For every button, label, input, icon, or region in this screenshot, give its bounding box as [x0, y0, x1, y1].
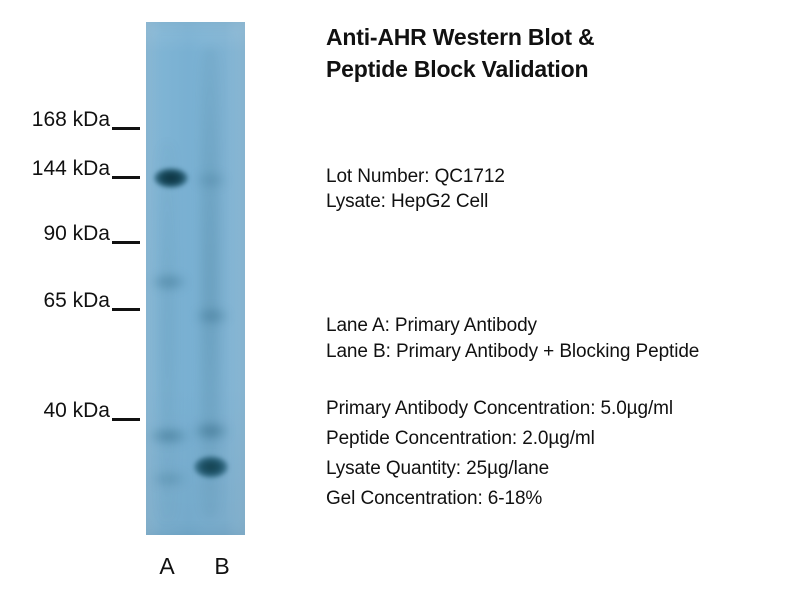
- mw-marker-tick: [112, 418, 140, 421]
- mw-marker-tick: [112, 241, 140, 244]
- primary-antibody-concentration-text: Primary Antibody Concentration: 5.0µg/ml: [326, 398, 673, 420]
- lot-number-text: Lot Number: QC1712: [326, 166, 505, 188]
- mw-marker-tick: [112, 308, 140, 311]
- gel-concentration-text: Gel Concentration: 6-18%: [326, 488, 542, 510]
- mw-marker-label: 65 kDa: [43, 289, 110, 313]
- lane-label-a: A: [152, 553, 182, 580]
- band-lane-a-36kda: [150, 428, 188, 444]
- lane-a-legend-text: Lane A: Primary Antibody: [326, 315, 537, 337]
- mw-marker-tick: [112, 127, 140, 130]
- band-lane-a-30kda: [152, 472, 186, 486]
- mw-marker-label: 144 kDa: [32, 157, 110, 181]
- band-lane-b-32kda: [194, 456, 228, 478]
- figure-title-line-1: Anti-AHR Western Blot &: [326, 24, 594, 51]
- figure-title-line-2: Peptide Block Validation: [326, 56, 588, 83]
- peptide-concentration-text: Peptide Concentration: 2.0µg/ml: [326, 428, 595, 450]
- band-lane-b-37kda: [194, 422, 228, 440]
- band-lane-b-144kda-blocked: [196, 172, 226, 188]
- blot-membrane: [146, 22, 245, 535]
- band-lane-a-144kda: [154, 168, 188, 188]
- lane-b-smear: [198, 48, 222, 518]
- mw-ladder: 168 kDa 144 kDa 90 kDa 65 kDa 40 kDa: [0, 0, 140, 600]
- band-lane-b-61kda: [196, 308, 228, 324]
- mw-marker-40: 40 kDa: [0, 395, 140, 423]
- western-blot-figure: 168 kDa 144 kDa 90 kDa 65 kDa 40 kDa: [0, 0, 800, 600]
- mw-marker-144: 144 kDa: [0, 153, 140, 181]
- mw-marker-label: 90 kDa: [43, 222, 110, 246]
- mw-marker-label: 40 kDa: [43, 399, 110, 423]
- mw-marker-65: 65 kDa: [0, 285, 140, 313]
- mw-marker-tick: [112, 176, 140, 179]
- lysate-quantity-text: Lysate Quantity: 25µg/lane: [326, 458, 549, 480]
- lysate-text: Lysate: HepG2 Cell: [326, 191, 488, 213]
- mw-marker-label: 168 kDa: [32, 108, 110, 132]
- mw-marker-168: 168 kDa: [0, 104, 140, 132]
- annotation-panel: Anti-AHR Western Blot & Peptide Block Va…: [326, 0, 800, 600]
- lane-b-legend-text: Lane B: Primary Antibody + Blocking Pept…: [326, 341, 699, 363]
- mw-marker-90: 90 kDa: [0, 218, 140, 246]
- lane-label-b: B: [207, 553, 237, 580]
- lane-a-smear: [156, 142, 178, 522]
- band-lane-a-72kda: [152, 274, 186, 290]
